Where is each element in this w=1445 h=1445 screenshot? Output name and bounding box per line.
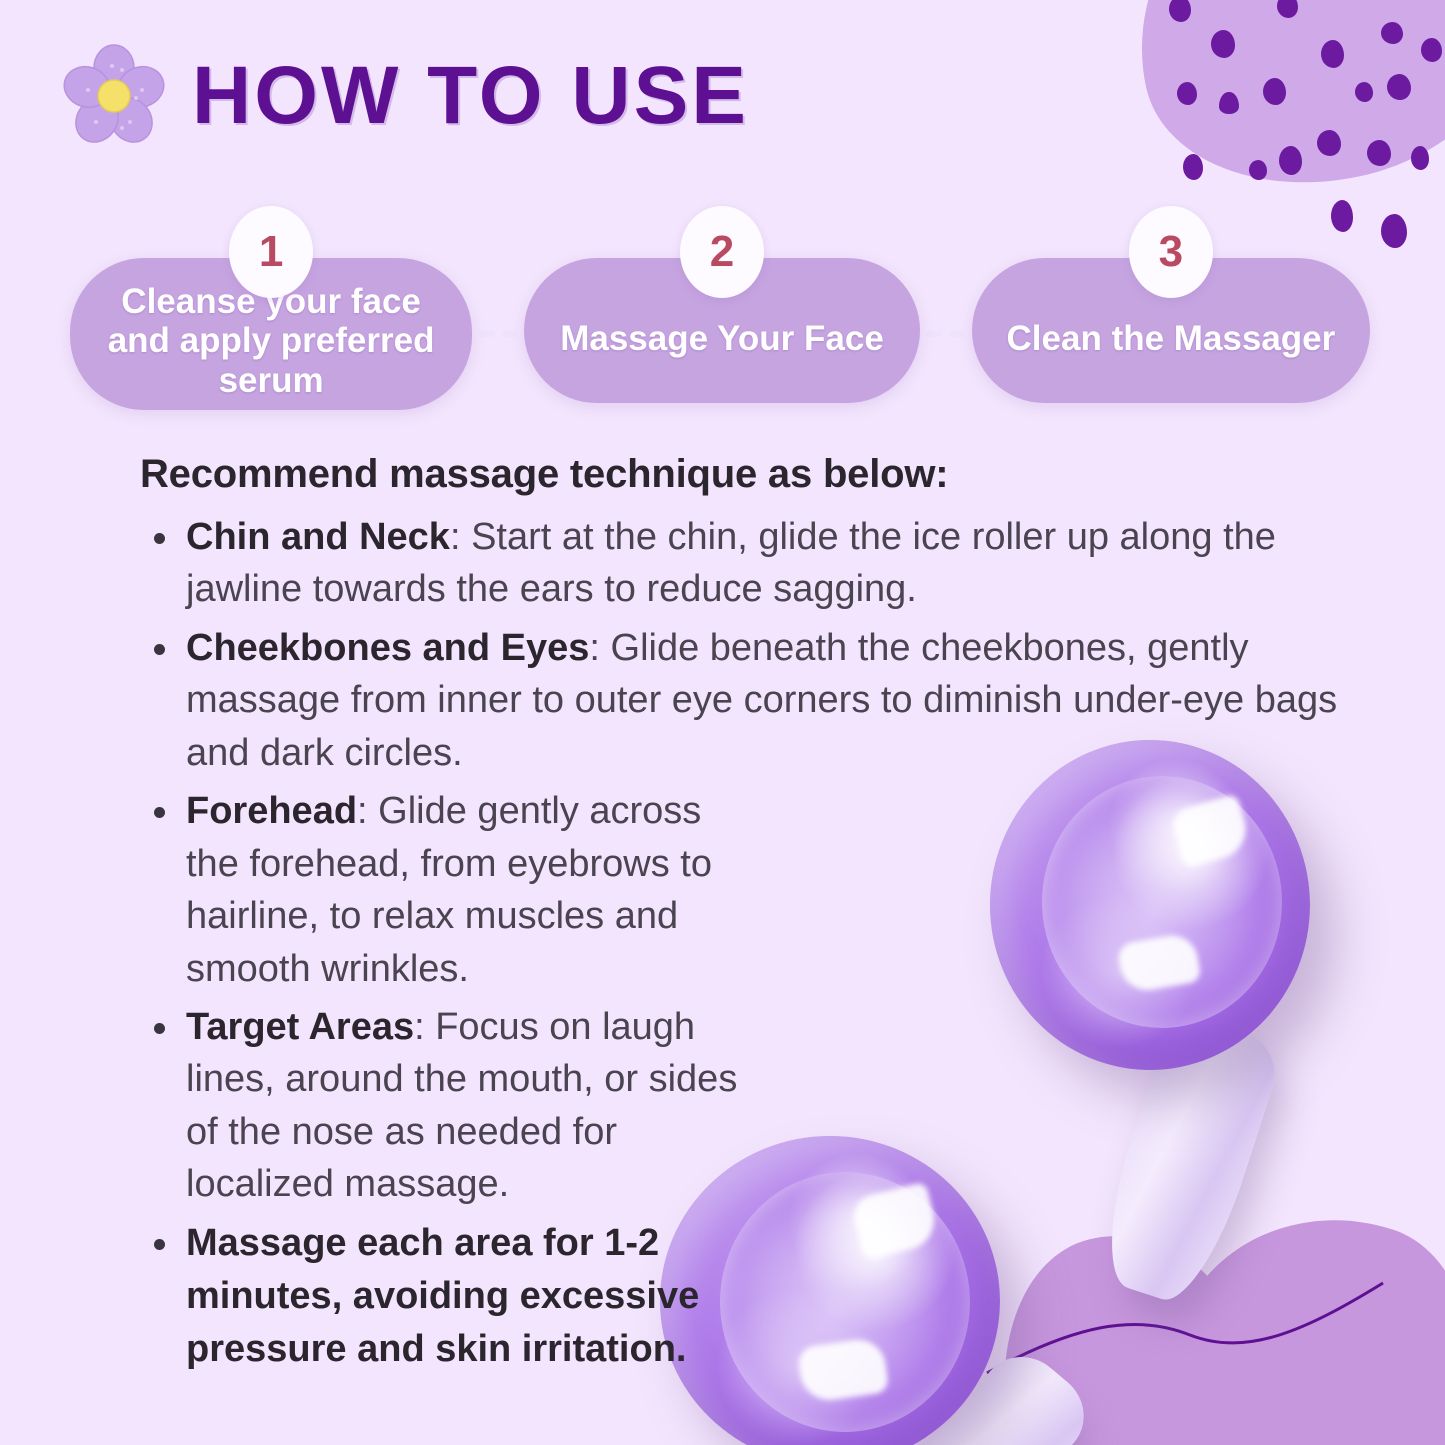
list-item: Target Areas: Focus on laugh lines, arou… — [140, 1001, 746, 1211]
step-card-2[interactable]: 2 Massage Your Face — [524, 258, 920, 403]
list-item-term: Chin and Neck — [186, 516, 450, 558]
list-item-term: Cheekbones and Eyes — [186, 627, 589, 669]
list-item-term: Forehead — [186, 790, 357, 832]
instructions-lead: Recommend massage technique as below: — [140, 452, 1340, 497]
step-badge-3: 3 — [1129, 206, 1213, 298]
instructions-section: Recommend massage technique as below: Ch… — [140, 452, 1340, 1382]
page-header: HOW TO USE — [62, 44, 749, 148]
step-connector-2 — [920, 258, 972, 410]
step-label-2: Massage Your Face — [560, 319, 884, 358]
list-item: Massage each area for 1-2 minutes, avoid… — [140, 1217, 726, 1377]
list-item-term: Massage each area for 1-2 minutes, avoid… — [186, 1222, 699, 1370]
flower-icon — [62, 44, 166, 148]
step-badge-2: 2 — [680, 206, 764, 298]
confetti-dots — [1115, 0, 1445, 190]
poster-canvas: HOW TO USE 1 Cleanse your face and apply… — [0, 0, 1445, 1445]
list-item: Cheekbones and Eyes: Glide beneath the c… — [140, 622, 1340, 779]
list-item: Chin and Neck: Start at the chin, glide … — [140, 511, 1340, 616]
page-title: HOW TO USE — [192, 55, 749, 137]
steps-row: 1 Cleanse your face and apply preferred … — [70, 258, 1370, 410]
step-label-3: Clean the Massager — [1007, 319, 1336, 358]
step-connector-1 — [472, 258, 524, 410]
step-card-1[interactable]: 1 Cleanse your face and apply preferred … — [70, 258, 472, 410]
list-item: Forehead: Glide gently across the forehe… — [140, 785, 746, 995]
step-label-1: Cleanse your face and apply preferred se… — [94, 282, 448, 400]
list-item-term: Target Areas — [186, 1006, 414, 1048]
step-badge-1: 1 — [229, 206, 313, 298]
technique-list: Chin and Neck: Start at the chin, glide … — [140, 511, 1340, 1376]
step-card-3[interactable]: 3 Clean the Massager — [972, 258, 1370, 403]
